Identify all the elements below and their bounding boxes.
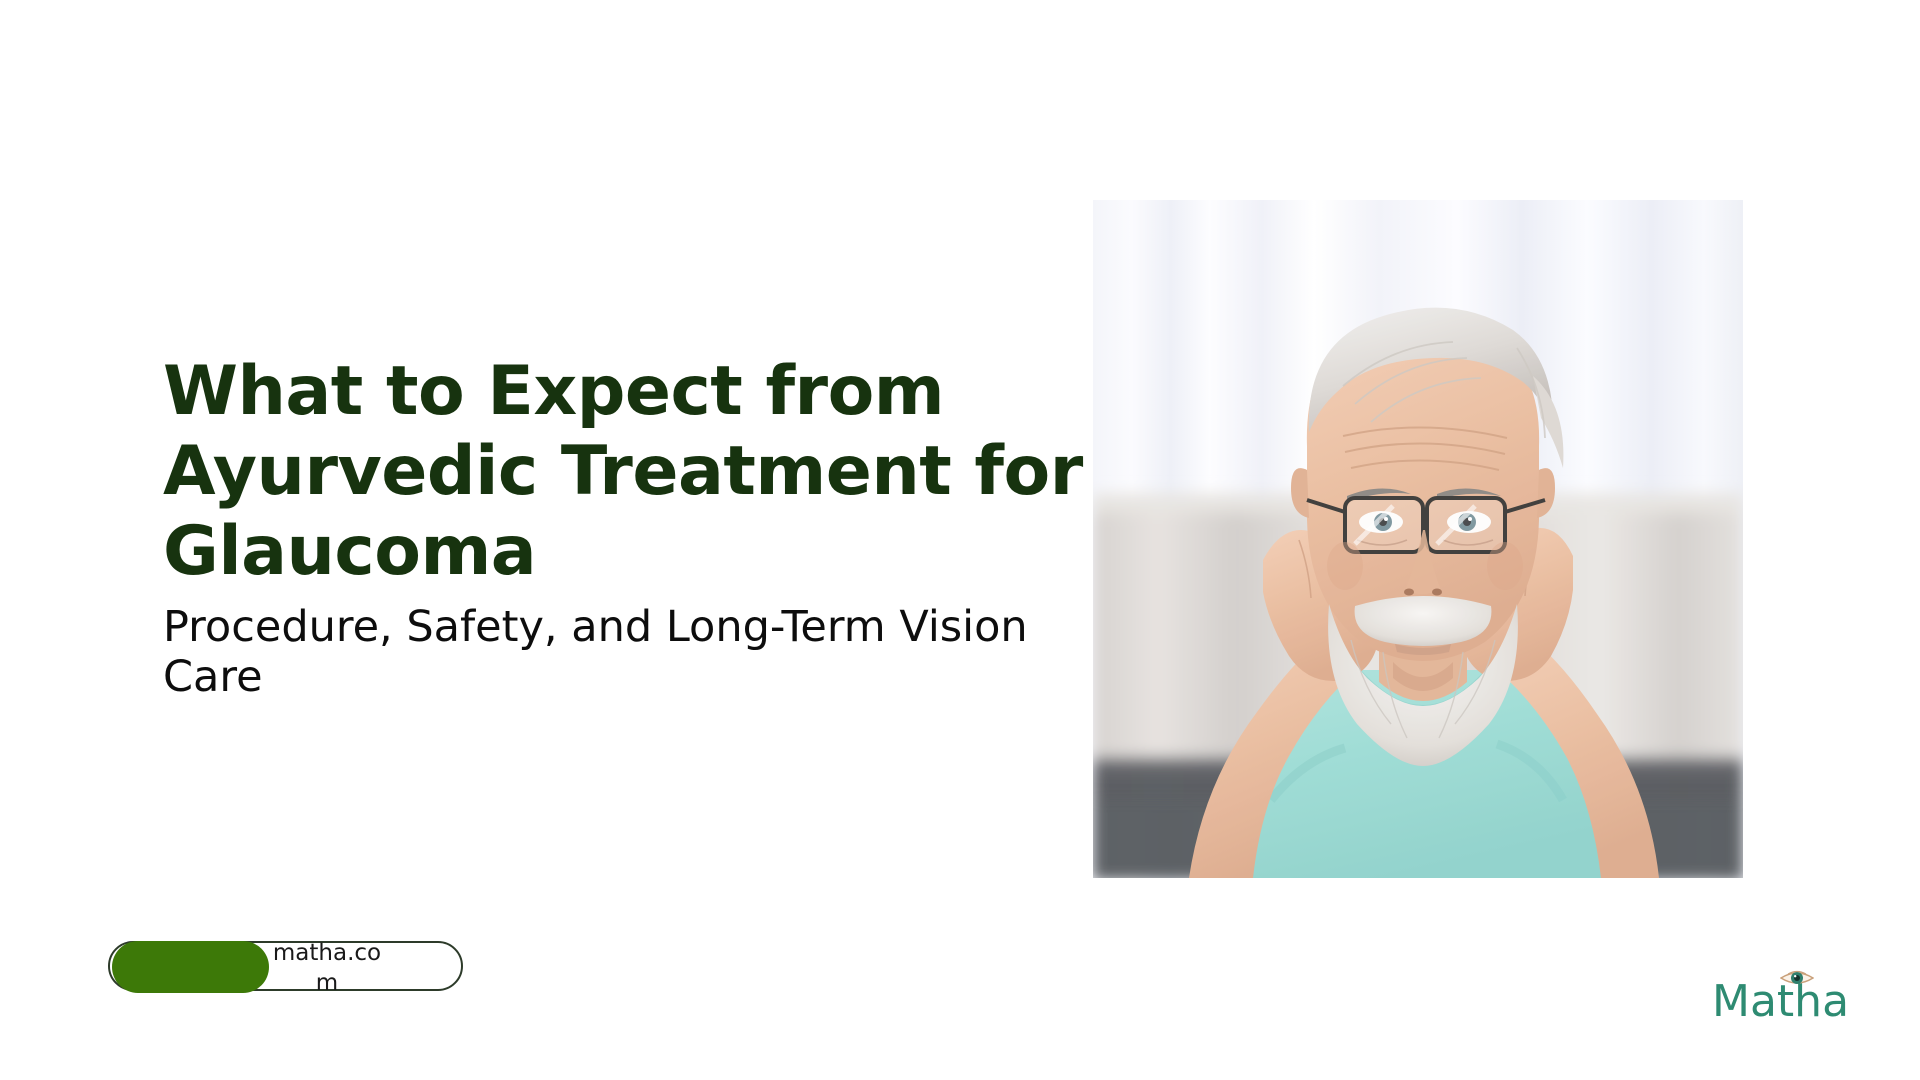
page-title: What to Expect from Ayurvedic Treatment … xyxy=(163,352,1093,592)
eye-icon xyxy=(1780,968,1814,988)
hero-photo xyxy=(1093,200,1743,878)
url-badge-label: matha.com xyxy=(267,943,387,993)
slide-canvas: What to Expect from Ayurvedic Treatment … xyxy=(0,0,1920,1080)
page-subtitle: Procedure, Safety, and Long-Term Vision … xyxy=(163,592,1093,702)
url-badge-accent-bar xyxy=(112,941,269,993)
hero-photo-image xyxy=(1093,200,1743,878)
brand-logo: Matha xyxy=(1712,968,1862,1024)
title-block: What to Expect from Ayurvedic Treatment … xyxy=(163,352,1093,702)
website-url-badge[interactable]: matha.com xyxy=(108,941,463,991)
